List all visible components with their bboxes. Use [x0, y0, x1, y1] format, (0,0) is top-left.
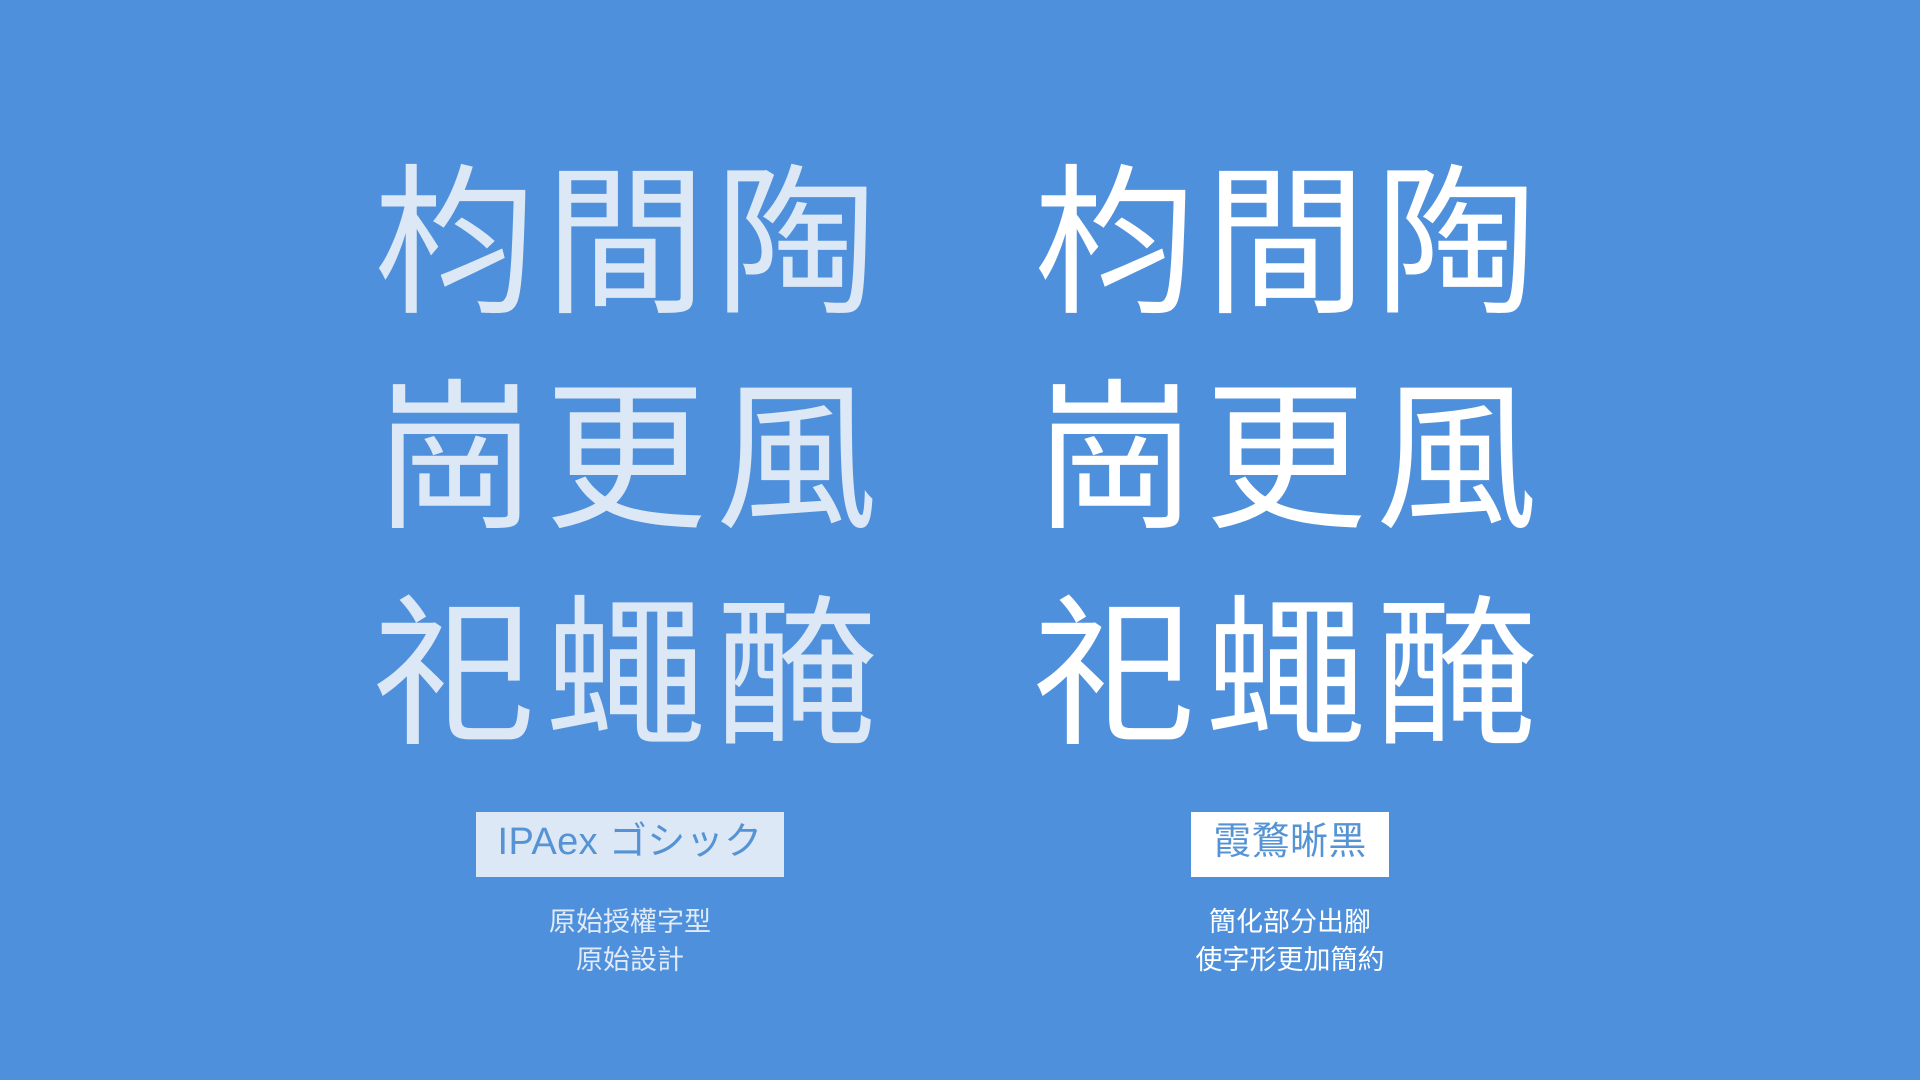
font-description-original: 原始授權字型 原始設計: [549, 903, 711, 980]
font-description-line: 使字形更加簡約: [1196, 941, 1385, 979]
font-description-line: 原始授權字型: [549, 903, 711, 941]
glyph-row: 枃間陶: [1034, 138, 1547, 353]
glyph-row: 枃間陶: [374, 138, 887, 353]
specimen-canvas: 枃間陶 崗更風 祀蠅醃 IPAex ゴシック 原始授權字型 原始設計 枃間陶 崗…: [0, 0, 1920, 1080]
font-name-badge-derived: 霞鶩晰黑: [1191, 812, 1389, 876]
font-description-line: 簡化部分出腳: [1196, 903, 1385, 941]
glyph-grid-derived: 枃間陶 崗更風 祀蠅醃: [1034, 138, 1547, 784]
font-description-line: 原始設計: [549, 941, 711, 979]
glyph-row: 崗更風: [374, 353, 887, 568]
font-name-badge-original: IPAex ゴシック: [476, 812, 785, 876]
font-description-derived: 簡化部分出腳 使字形更加簡約: [1196, 903, 1385, 980]
glyph-row: 崗更風: [1034, 353, 1547, 568]
glyph-row: 祀蠅醃: [374, 569, 887, 784]
glyph-row: 祀蠅醃: [1034, 569, 1547, 784]
font-column-derived: 枃間陶 崗更風 祀蠅醃 霞鶩晰黑 簡化部分出腳 使字形更加簡約: [980, 0, 1600, 979]
font-column-original: 枃間陶 崗更風 祀蠅醃 IPAex ゴシック 原始授權字型 原始設計: [320, 0, 940, 979]
font-comparison-columns: 枃間陶 崗更風 祀蠅醃 IPAex ゴシック 原始授權字型 原始設計 枃間陶 崗…: [0, 0, 1920, 1080]
glyph-grid-original: 枃間陶 崗更風 祀蠅醃: [374, 138, 887, 784]
